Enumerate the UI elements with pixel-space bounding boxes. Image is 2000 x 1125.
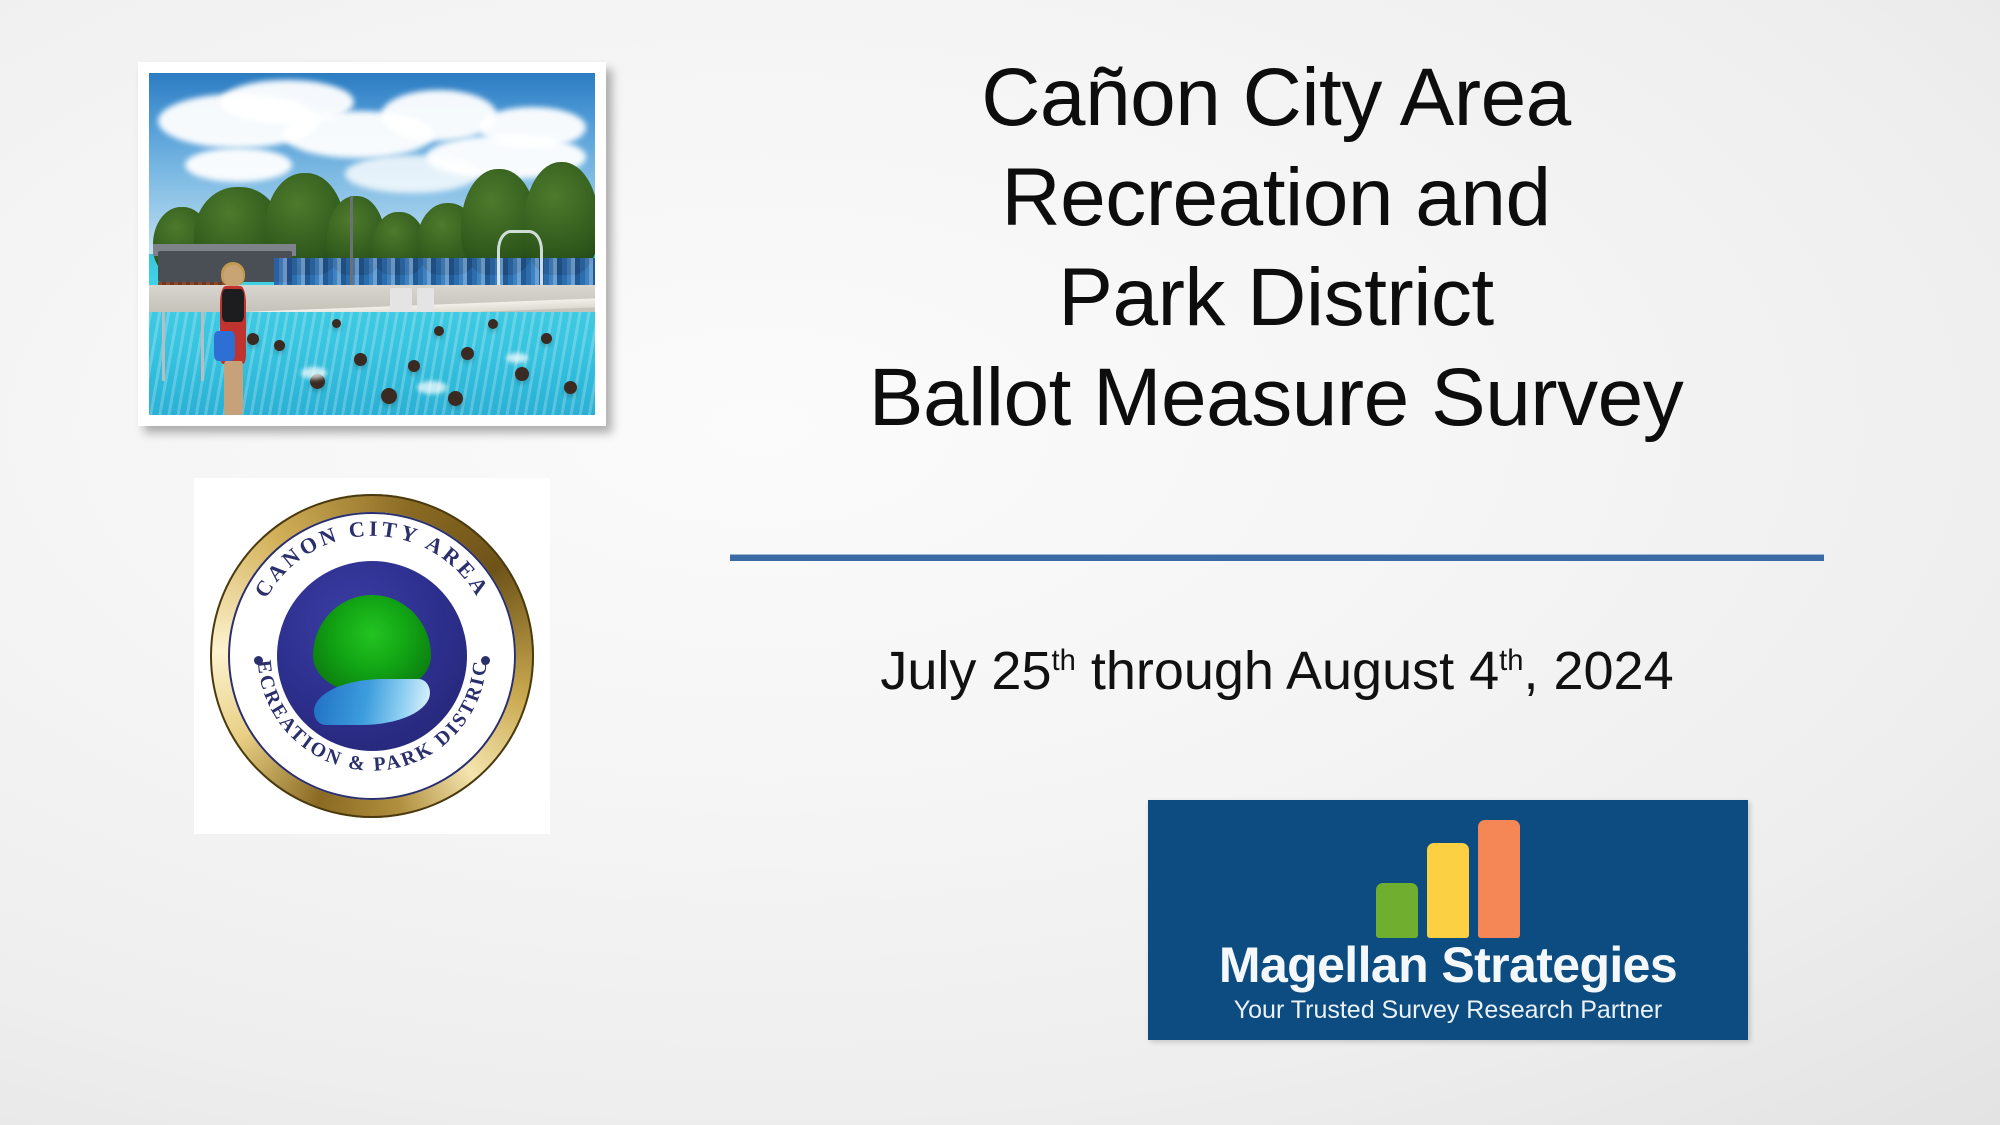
swimmer — [408, 360, 420, 372]
survey-date-range: July 25th through August 4th, 2024 — [730, 640, 1824, 702]
seal-gold-ring: CANON CITY AREA RECREATION & PARK DISTRI… — [210, 494, 534, 818]
cloud — [479, 107, 586, 148]
bar-chart-orange-bar — [1478, 820, 1520, 938]
swimmer — [381, 388, 397, 404]
bar-chart-green-bar — [1376, 883, 1418, 938]
date-year: , 2024 — [1523, 641, 1673, 701]
bar-chart-yellow-bar — [1427, 843, 1469, 938]
title-underline-rule — [730, 554, 1824, 561]
date-end-ordinal: th — [1499, 645, 1523, 677]
page-title: Cañon City Area Recreation and Park Dist… — [730, 48, 1822, 448]
title-line-1: Cañon City Area — [730, 48, 1822, 148]
swimmer — [564, 381, 577, 394]
lifeguard-rescue-tube — [214, 331, 235, 361]
swimmer — [461, 347, 474, 360]
district-seal-logo: CANON CITY AREA RECREATION & PARK DISTRI… — [194, 478, 550, 834]
pool-ladder — [162, 312, 204, 380]
magellan-tagline: Your Trusted Survey Research Partner — [1148, 996, 1748, 1025]
seal-text-ring: CANON CITY AREA RECREATION & PARK DISTRI… — [228, 512, 516, 800]
water-splash — [301, 367, 327, 379]
magellan-strategies-logo: Magellan Strategies Your Trusted Survey … — [1148, 800, 1748, 1040]
light-pole — [350, 196, 353, 288]
water-splash — [417, 381, 447, 394]
date-start: July 25 — [880, 641, 1051, 701]
swimmer — [515, 367, 529, 381]
bar-chart-icon — [1357, 820, 1539, 938]
magellan-name: Magellan Strategies — [1148, 936, 1748, 994]
deck-chair — [417, 288, 435, 312]
presentation-title-slide: CANON CITY AREA RECREATION & PARK DISTRI… — [0, 0, 2000, 1125]
swimmer — [274, 340, 285, 351]
title-line-2: Recreation and — [730, 148, 1822, 248]
date-start-ordinal: th — [1051, 645, 1075, 677]
pool-photo-frame — [138, 62, 606, 426]
lifeguard-legs — [224, 361, 243, 415]
swimmer — [448, 391, 463, 406]
title-line-4: Ballot Measure Survey — [730, 348, 1822, 448]
date-connector: through August — [1076, 641, 1469, 701]
poolside-crowd — [274, 258, 595, 289]
date-end: 4 — [1469, 641, 1499, 701]
lifeguard — [211, 265, 256, 415]
title-line-3: Park District — [730, 248, 1822, 348]
lifeguard-swimsuit — [222, 289, 243, 322]
cloud — [381, 90, 497, 141]
pool-photo — [149, 73, 595, 415]
deck-chair — [390, 288, 412, 312]
lifeguard-head — [223, 265, 243, 288]
